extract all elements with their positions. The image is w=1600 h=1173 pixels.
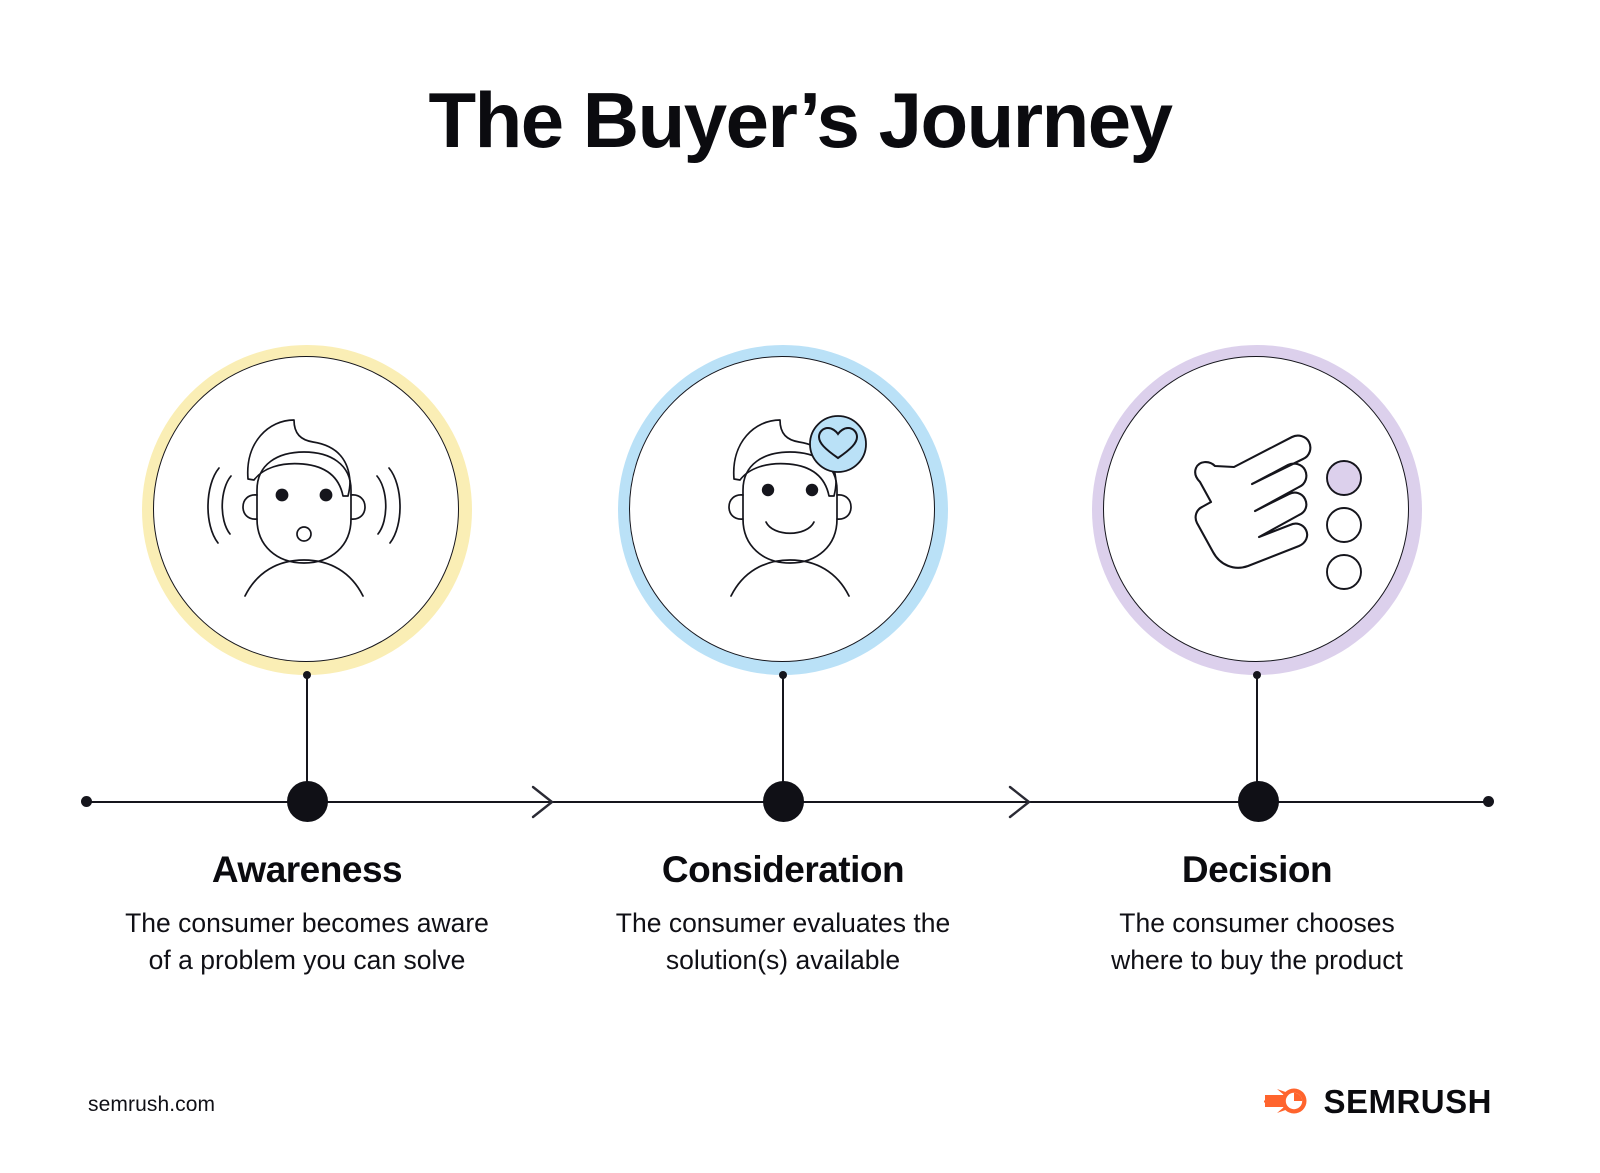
semrush-wordmark: SEMRUSH: [1323, 1085, 1492, 1118]
stage-decision-caption: Decision The consumer chooses where to b…: [1022, 850, 1492, 980]
semrush-comet-icon: [1264, 1083, 1310, 1119]
stage-consideration-caption: Consideration The consumer evaluates the…: [548, 850, 1018, 980]
timeline-start-dot: [81, 796, 92, 807]
desc-line-2: where to buy the product: [1042, 942, 1472, 980]
page-title: The Buyer’s Journey: [0, 78, 1600, 164]
timeline-node-consideration: [763, 781, 804, 822]
infographic-canvas: The Buyer’s Journey: [0, 0, 1600, 1173]
semrush-logo: SEMRUSH: [1264, 1083, 1492, 1119]
stage-awareness-illustration: [142, 345, 472, 675]
pointing-hand-choosing-option-icon: [1103, 356, 1409, 662]
timeline-node-decision: [1238, 781, 1279, 822]
timeline-node-awareness: [287, 781, 328, 822]
stage-description: The consumer becomes aware of a problem …: [92, 905, 522, 980]
stage-awareness-caption: Awareness The consumer becomes aware of …: [72, 850, 542, 980]
connector-anchor-dot: [779, 671, 787, 679]
connector-anchor-dot: [1253, 671, 1261, 679]
desc-line-1: The consumer chooses: [1119, 908, 1394, 938]
footer-url: semrush.com: [88, 1093, 215, 1117]
desc-line-2: solution(s) available: [568, 942, 998, 980]
stage-decision: Decision The consumer chooses where to b…: [1022, 345, 1492, 675]
desc-line-2: of a problem you can solve: [92, 942, 522, 980]
timeline-end-dot: [1483, 796, 1494, 807]
desc-line-1: The consumer becomes aware: [125, 908, 489, 938]
stage-awareness: Awareness The consumer becomes aware of …: [72, 345, 542, 675]
stage-consideration: Consideration The consumer evaluates the…: [548, 345, 1018, 675]
arrow-chevron-icon: [1004, 782, 1034, 822]
desc-line-1: The consumer evaluates the: [616, 908, 950, 938]
arrow-chevron-icon: [527, 782, 557, 822]
stage-decision-illustration: [1092, 345, 1422, 675]
stage-name: Consideration: [548, 850, 1018, 891]
stage-description: The consumer chooses where to buy the pr…: [1042, 905, 1472, 980]
smiling-face-with-heart-badge-icon: [629, 356, 935, 662]
stage-name: Awareness: [72, 850, 542, 891]
stage-name: Decision: [1022, 850, 1492, 891]
stage-consideration-illustration: [618, 345, 948, 675]
surprised-face-icon: [153, 356, 459, 662]
stage-description: The consumer evaluates the solution(s) a…: [568, 905, 998, 980]
connector-anchor-dot: [303, 671, 311, 679]
